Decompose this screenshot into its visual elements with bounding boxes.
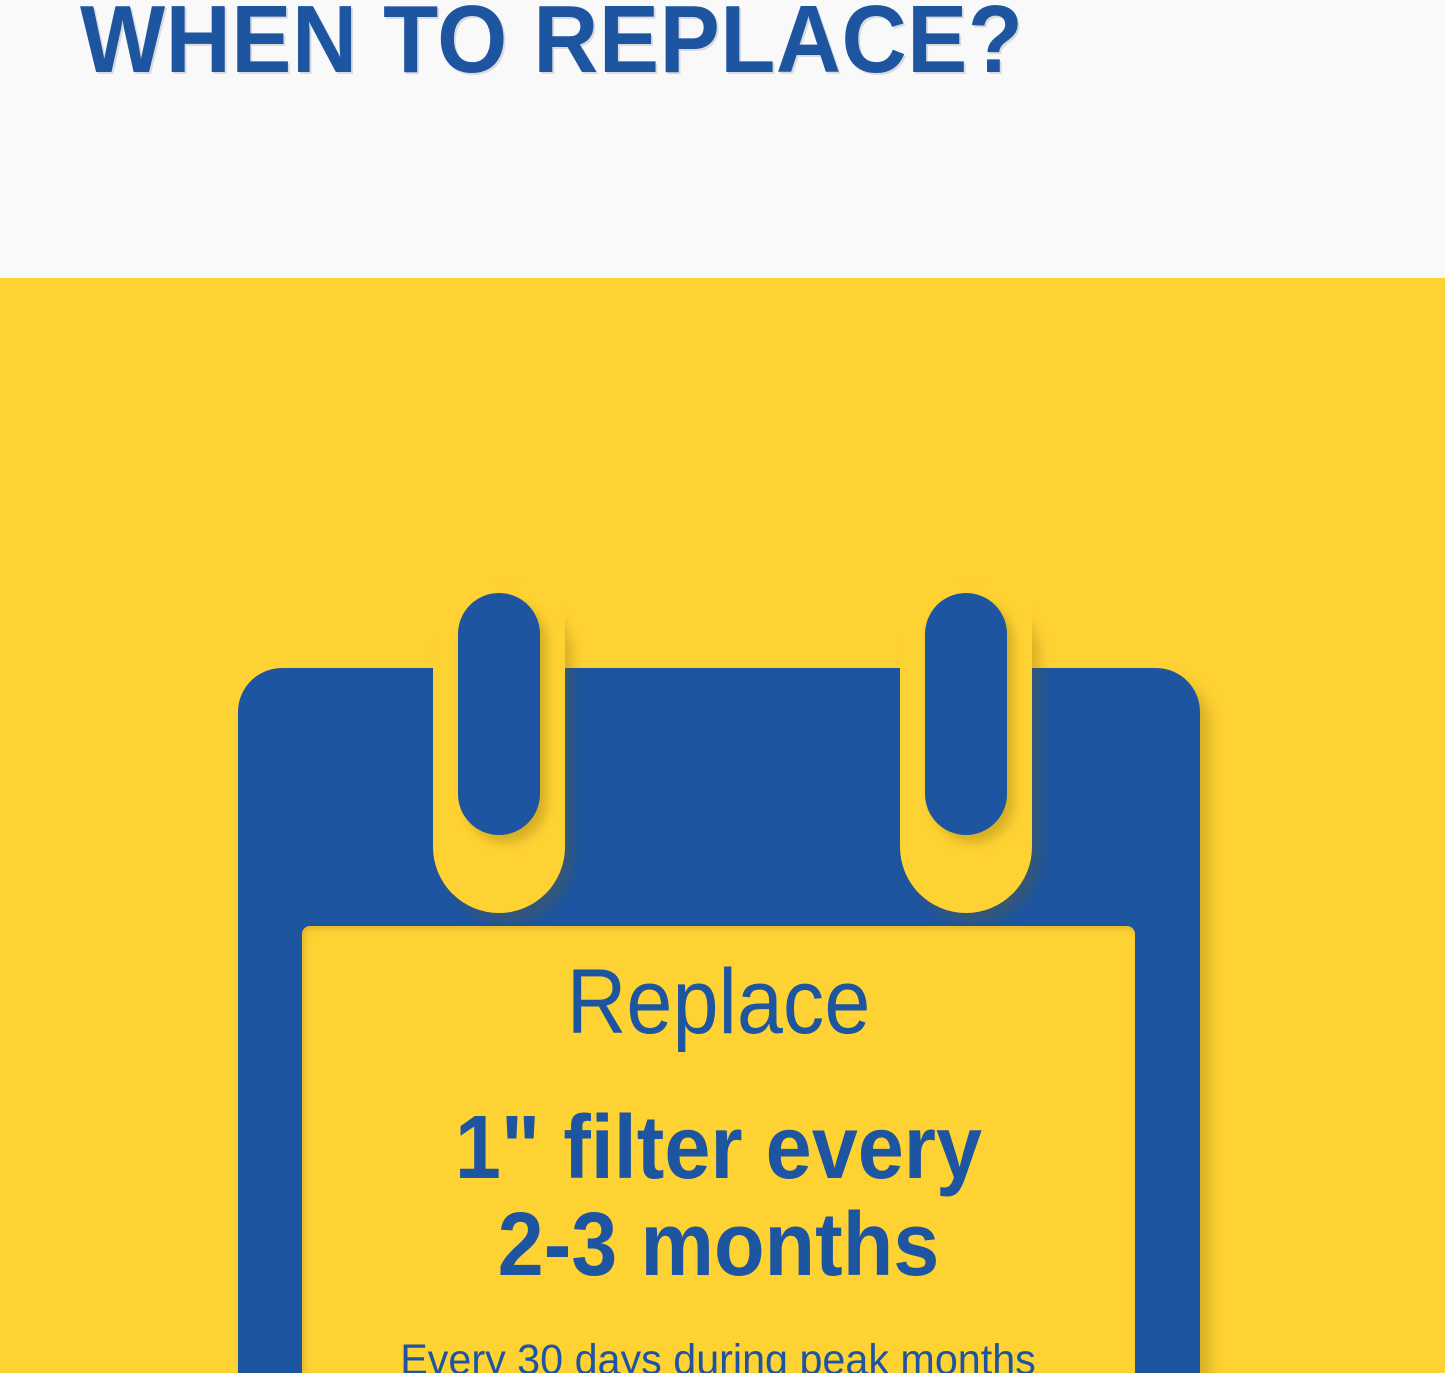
replace-headline-line-1: 1" filter every: [335, 1101, 1101, 1195]
ring-pill-left: [458, 593, 540, 835]
calendar-page-content: Replace 1" filter every 2-3 months Every…: [302, 926, 1135, 1373]
replace-headline-line-2: 2-3 months: [335, 1198, 1101, 1292]
replace-eyebrow: Replace: [344, 954, 1094, 1050]
replace-note-block: Every 30 days during peak months: [358, 1334, 1078, 1373]
infographic-canvas: WHEN TO REPLACE? Replace 1": [0, 0, 1445, 1373]
replace-note: Every 30 days during peak months: [372, 1334, 1063, 1373]
ring-pill-right: [925, 593, 1007, 835]
calendar-ring-right-icon: [900, 583, 1032, 913]
page-title: WHEN TO REPLACE?: [80, 0, 1023, 90]
calendar-page: Replace 1" filter every 2-3 months Every…: [302, 926, 1135, 1373]
calendar-ring-left-icon: [433, 583, 565, 913]
header-band: WHEN TO REPLACE?: [0, 0, 1445, 278]
yellow-background: Replace 1" filter every 2-3 months Every…: [0, 278, 1445, 1373]
calendar-icon: Replace 1" filter every 2-3 months Every…: [238, 668, 1200, 1373]
